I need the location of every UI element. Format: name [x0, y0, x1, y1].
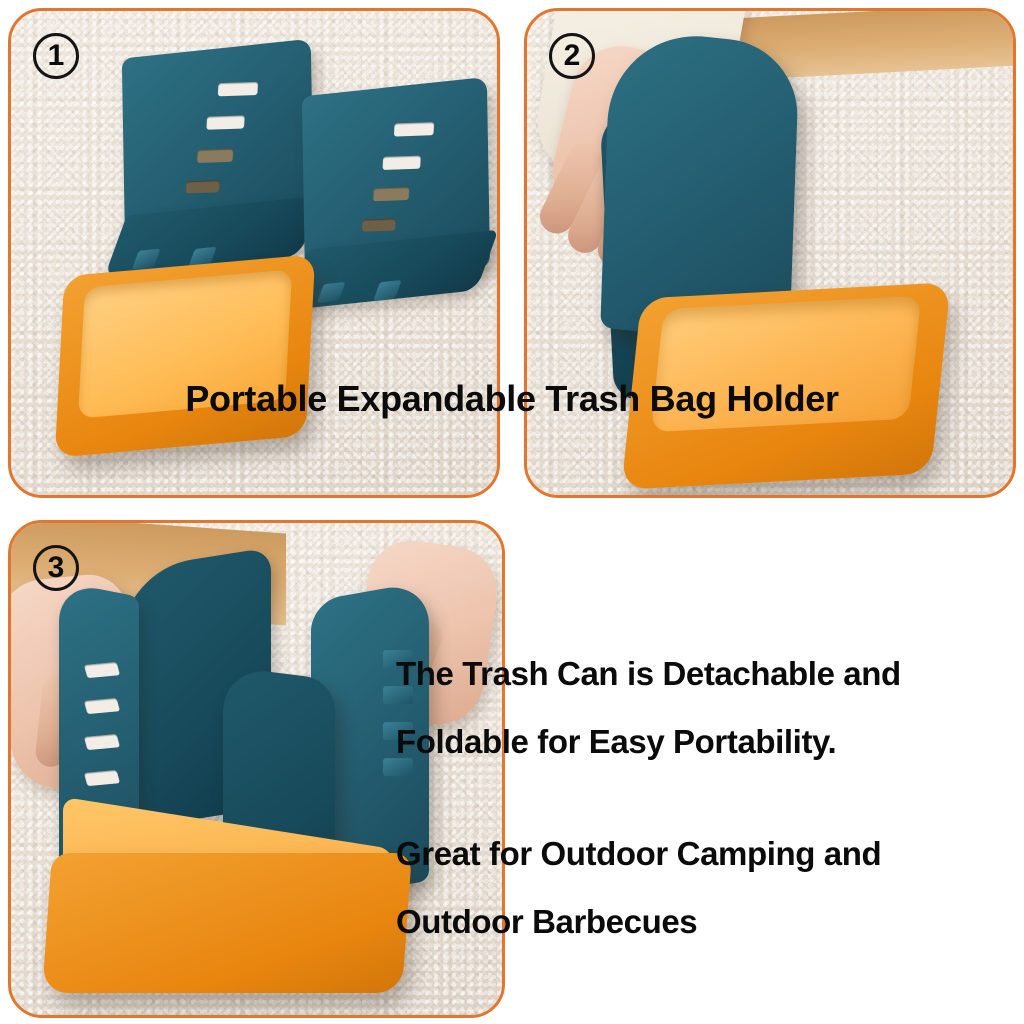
step-3-badge: 3: [33, 545, 79, 591]
infographic-canvas: 1 2: [0, 0, 1024, 1024]
panel-slot: [206, 115, 244, 129]
panel-notch: [132, 249, 161, 270]
page-title: Portable Expandable Trash Bag Holder: [0, 378, 1024, 420]
panel-slot: [197, 149, 233, 163]
copy-line-2: Foldable for Easy Portability.: [396, 708, 1022, 776]
panel-slot: [186, 180, 220, 193]
step-1-badge: 1: [33, 33, 79, 79]
panel-slot: [394, 122, 434, 136]
panel-slot: [362, 218, 396, 231]
panel-notch: [317, 282, 346, 303]
product-photo-panel-2: 2: [524, 8, 1016, 498]
panel-slot: [218, 82, 258, 96]
panel-slot: [382, 156, 420, 170]
panel-slot: [373, 187, 409, 201]
copy-line-4: Outdoor Barbecues: [396, 888, 1022, 956]
panel-slot: [84, 770, 120, 786]
copy-spacer: [396, 776, 1022, 820]
copy-line-1: The Trash Can is Detachable and: [396, 640, 1022, 708]
feature-copy-block: The Trash Can is Detachable and Foldable…: [396, 640, 1022, 956]
copy-line-3: Great for Outdoor Camping and: [396, 820, 1022, 888]
panel-slot: [84, 734, 120, 750]
step-2-badge: 2: [549, 33, 595, 79]
panel-notch: [373, 280, 402, 301]
orange-base-tray: [42, 853, 412, 993]
product-photo-panel-1: 1: [8, 8, 500, 498]
panel-slot: [84, 662, 120, 678]
panel-slot: [84, 698, 120, 714]
